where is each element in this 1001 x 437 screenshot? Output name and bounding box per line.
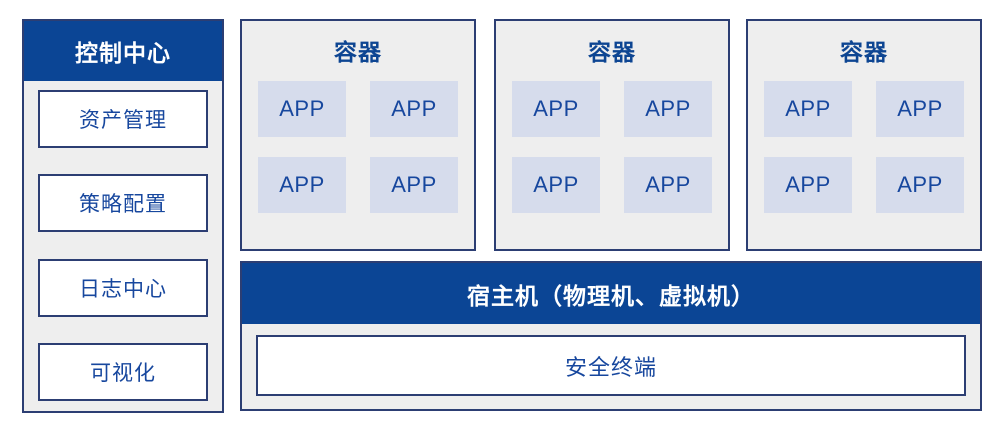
app-box[interactable]: APP xyxy=(764,157,852,213)
app-box[interactable]: APP xyxy=(258,157,346,213)
app-grid: APP APP APP APP xyxy=(748,81,980,213)
container-panel-3: 容器 APP APP APP APP xyxy=(746,19,982,251)
host-machine-body: 安全终端 xyxy=(242,324,980,409)
security-terminal-box[interactable]: 安全终端 xyxy=(256,335,966,396)
control-center-panel: 控制中心 资产管理 策略配置 日志中心 可视化 xyxy=(22,19,224,413)
app-box[interactable]: APP xyxy=(370,157,458,213)
app-grid: APP APP APP APP xyxy=(496,81,728,213)
app-box[interactable]: APP xyxy=(764,81,852,137)
app-box[interactable]: APP xyxy=(258,81,346,137)
container-title: 容器 xyxy=(242,27,474,69)
app-box[interactable]: APP xyxy=(624,81,712,137)
app-grid: APP APP APP APP xyxy=(242,81,474,213)
control-center-item-list: 资产管理 策略配置 日志中心 可视化 xyxy=(24,81,222,411)
host-machine-panel: 宿主机（物理机、虚拟机） 安全终端 xyxy=(240,261,982,411)
sidebar-item-log-center[interactable]: 日志中心 xyxy=(38,259,208,317)
container-title: 容器 xyxy=(496,27,728,69)
app-box[interactable]: APP xyxy=(876,81,964,137)
sidebar-item-asset-management[interactable]: 资产管理 xyxy=(38,90,208,148)
container-title: 容器 xyxy=(748,27,980,69)
control-center-header: 控制中心 xyxy=(24,21,222,81)
sidebar-item-policy-configuration[interactable]: 策略配置 xyxy=(38,174,208,232)
app-box[interactable]: APP xyxy=(512,157,600,213)
app-box[interactable]: APP xyxy=(512,81,600,137)
host-machine-header: 宿主机（物理机、虚拟机） xyxy=(242,263,980,324)
app-box[interactable]: APP xyxy=(624,157,712,213)
container-panel-1: 容器 APP APP APP APP xyxy=(240,19,476,251)
sidebar-item-visualization[interactable]: 可视化 xyxy=(38,343,208,401)
app-box[interactable]: APP xyxy=(370,81,458,137)
app-box[interactable]: APP xyxy=(876,157,964,213)
container-panel-2: 容器 APP APP APP APP xyxy=(494,19,730,251)
